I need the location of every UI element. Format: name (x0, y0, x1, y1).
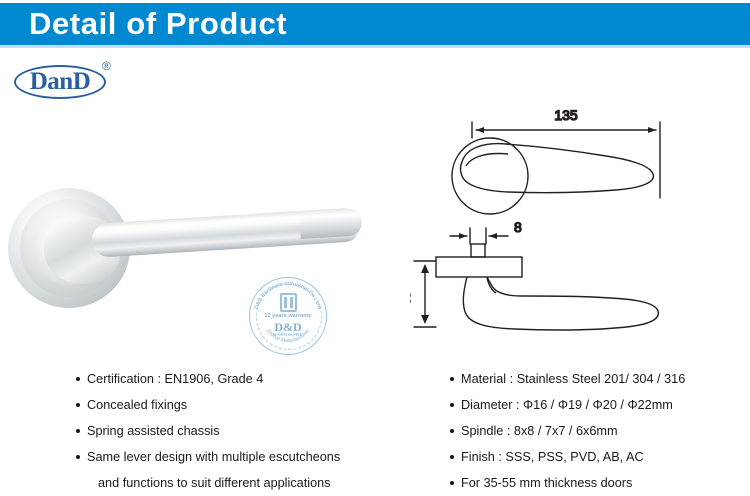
spec-text: Material : Stainless Steel 201/ 304 / 31… (461, 372, 685, 386)
list-item: Diameter : Φ16 / Φ19 / Φ20 / Φ22mm (450, 392, 750, 418)
spec-list-left: Certification : EN1906, Grade 4 Conceale… (76, 366, 406, 496)
bullet-icon (450, 455, 454, 459)
brand-logo: DanD ® (14, 55, 126, 99)
plan-rose-outline (452, 138, 528, 214)
plan-lever-inner-contour (466, 154, 508, 167)
dimension-height-label: 48 (410, 291, 413, 307)
side-lever-profile (463, 277, 658, 330)
page-title: Detail of Product (29, 4, 287, 44)
dimension-length-label: 135 (554, 107, 578, 123)
bullet-icon (76, 455, 80, 459)
seal-emblem-icon (280, 293, 297, 312)
spec-text: Certification : EN1906, Grade 4 (87, 372, 263, 386)
list-item: Material : Stainless Steel 201/ 304 / 31… (450, 366, 750, 392)
dimension-height-48 (414, 261, 436, 327)
spec-list-right: Material : Stainless Steel 201/ 304 / 31… (450, 366, 750, 496)
list-item: Finish : SSS, PSS, PVD, AB, AC (450, 444, 750, 470)
spec-text: Spindle : 8x8 / 7x7 / 6x6mm (461, 424, 618, 438)
spec-text: Concealed fixings (87, 398, 187, 412)
bullet-icon (450, 429, 454, 433)
bullet-icon (450, 403, 454, 407)
registered-trademark-icon: ® (102, 59, 111, 73)
side-rose-plate-outline (436, 257, 522, 277)
bullet-icon (76, 403, 80, 407)
technical-drawings: 135 8 (410, 100, 750, 350)
dimension-spindle-8 (450, 228, 508, 244)
spec-text: Diameter : Φ16 / Φ19 / Φ20 / Φ22mm (461, 398, 673, 412)
dimension-length-135 (472, 122, 660, 198)
bullet-icon (450, 377, 454, 381)
list-item: Certification : EN1906, Grade 4 (76, 366, 406, 392)
list-item: Concealed fixings (76, 392, 406, 418)
handle-lever-tip (299, 208, 362, 239)
spec-text-continuation: and functions to suit different applicat… (87, 470, 406, 496)
spec-text: Same lever design with multiple escutche… (87, 450, 340, 464)
list-item: Spring assisted chassis (76, 418, 406, 444)
bullet-icon (450, 481, 454, 485)
drawings-svg: 135 8 (410, 100, 750, 350)
spec-text: Finish : SSS, PSS, PVD, AB, AC (461, 450, 644, 464)
watermark-seal: D&D Hardware Industrial Co., Ltd Global … (249, 277, 327, 355)
side-spindle-outline (471, 244, 485, 257)
product-detail-page: Detail of Product DanD ® D&D Hardware In… (0, 0, 750, 496)
seal-warranty-text: 12 years warranty (249, 313, 327, 319)
list-item: For 35-55 mm thickness doors (450, 470, 750, 496)
dimension-spindle-label: 8 (514, 219, 522, 235)
list-item: Spindle : 8x8 / 7x7 / 6x6mm (450, 418, 750, 444)
brand-wordmark: DanD (14, 65, 106, 99)
header-banner-underline (0, 45, 750, 48)
plan-lever-outline (461, 144, 654, 193)
spec-text: For 35-55 mm thickness doors (461, 476, 632, 490)
bullet-icon (76, 377, 80, 381)
bullet-icon (76, 429, 80, 433)
seal-brand-subtext: HARDWARE (249, 332, 327, 337)
spec-text: Spring assisted chassis (87, 424, 220, 438)
list-item: Same lever design with multiple escutche… (76, 444, 406, 496)
